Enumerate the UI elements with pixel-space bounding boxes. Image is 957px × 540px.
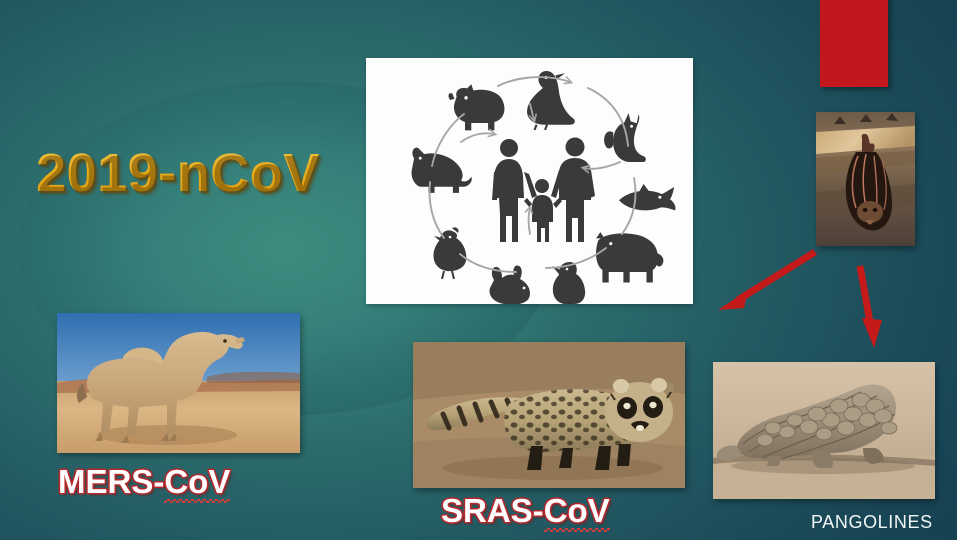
zoonotic-cycle-diagram [366, 58, 693, 304]
sras-suffix: CoV [544, 492, 610, 530]
mers-prefix: MERS- [58, 463, 164, 500]
red-rectangle-shape [820, 0, 888, 87]
bat-photo [816, 112, 915, 246]
pangolin-photo [713, 362, 935, 499]
civet-photo [413, 342, 685, 488]
sras-cov-label: SRAS-CoV [441, 492, 610, 530]
sras-prefix: SRAS- [441, 492, 544, 529]
camel-photo [57, 313, 300, 453]
mers-suffix: CoV [164, 463, 230, 501]
mers-cov-label: MERS-CoV [58, 463, 230, 501]
bat-to-pangolin-arrow [860, 266, 882, 348]
pangolines-label: PANGOLINES [811, 512, 933, 533]
bat-to-civet-arrow [718, 252, 815, 310]
page-title: 2019-nCoV [36, 142, 320, 204]
slide-canvas: 2019-nCoV [0, 0, 957, 540]
